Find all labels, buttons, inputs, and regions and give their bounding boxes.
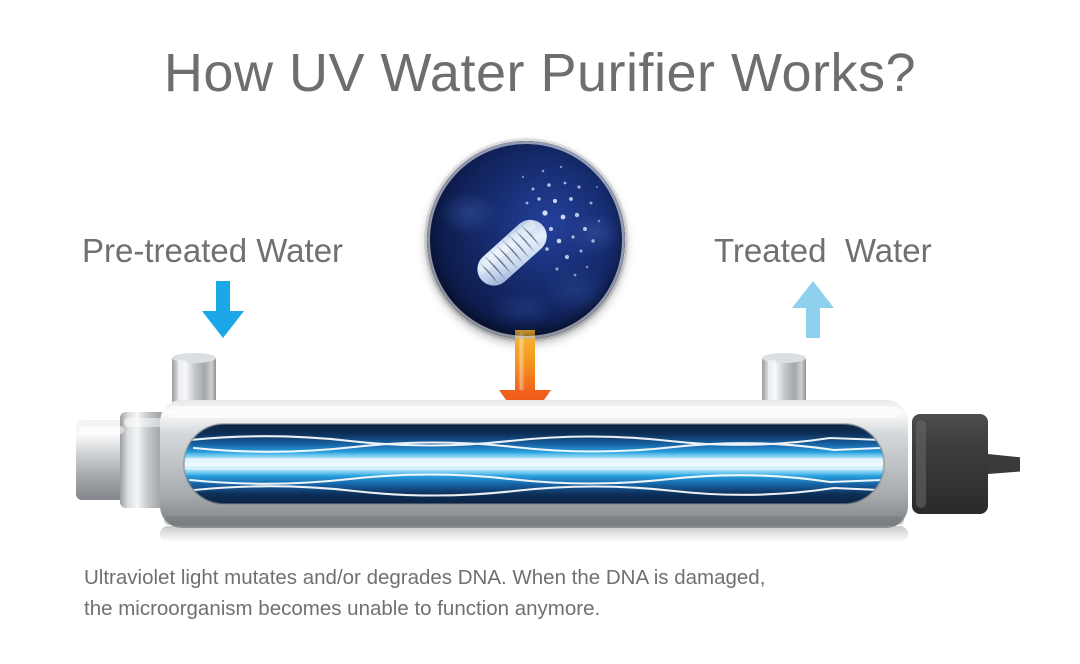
outlet-label: Treated Water [714, 232, 932, 270]
chamber-shadow [160, 526, 908, 542]
right-end-cap [912, 414, 1020, 514]
microscope-view-icon [427, 141, 625, 339]
uv-lamp-chamber [184, 424, 884, 504]
caption-line-1: Ultraviolet light mutates and/or degrade… [84, 562, 1004, 593]
inlet-label: Pre-treated Water [82, 232, 343, 270]
outlet-arrow-up-icon [789, 281, 837, 344]
caption-line-2: the microorganism becomes unable to func… [84, 593, 1004, 624]
left-end-fitting [76, 412, 174, 508]
caption: Ultraviolet light mutates and/or degrade… [84, 562, 1004, 624]
page-title: How UV Water Purifier Works? [0, 42, 1080, 104]
power-cable [988, 454, 1020, 474]
inlet-port [172, 353, 216, 406]
outlet-port [762, 353, 806, 406]
uv-chamber-diagram [60, 340, 1020, 555]
inlet-arrow-down-icon [199, 281, 247, 344]
